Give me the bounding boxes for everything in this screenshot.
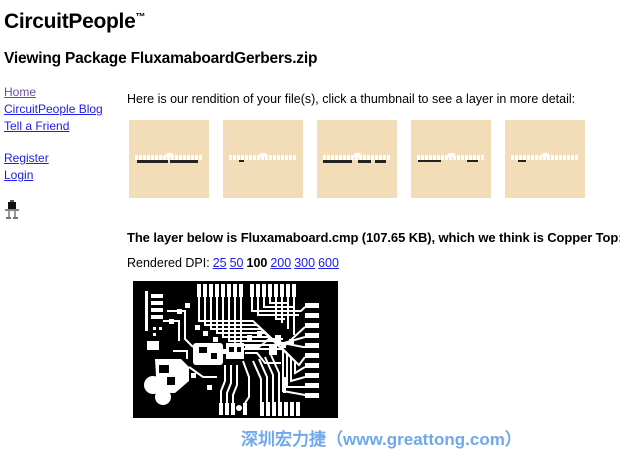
pcb-layer-render[interactable] [133,281,338,418]
layer-thumbnail-2[interactable] [223,120,303,198]
dpi-option-600[interactable]: 600 [318,256,339,270]
robot-figure-icon [4,200,20,220]
layer-thumbnail-1[interactable] [129,120,209,198]
intro-text: Here is our rendition of your file(s), c… [127,92,575,106]
trademark-symbol: ™ [135,12,145,23]
layer-caption: The layer below is Fluxamaboard.cmp (107… [127,230,620,245]
dpi-label: Rendered DPI: [127,256,210,270]
sidebar-item-blog[interactable]: CircuitPeople Blog [4,101,119,118]
dpi-selector: Rendered DPI:2550100200300600 [127,256,339,270]
dpi-option-50[interactable]: 50 [230,256,244,270]
dpi-option-200[interactable]: 200 [270,256,291,270]
sidebar-item-tell-a-friend[interactable]: Tell a Friend [4,118,119,135]
dpi-option-25[interactable]: 25 [213,256,227,270]
sidebar-item-home[interactable]: Home [4,84,119,101]
site-logo-title: CircuitPeople™ [4,10,145,34]
layer-thumbnail-3[interactable] [317,120,397,198]
page-title: Viewing Package FluxamaboardGerbers.zip [4,50,317,68]
layer-thumbnail-4[interactable] [411,120,491,198]
dpi-option-300[interactable]: 300 [294,256,315,270]
layer-thumbnail-5[interactable] [505,120,585,198]
site-name: CircuitPeople [4,10,135,33]
thumbnail-row [129,120,585,198]
sidebar-item-login[interactable]: Login [4,167,119,184]
dpi-option-100-current: 100 [247,256,268,270]
sidebar-navigation: Home CircuitPeople Blog Tell a Friend Re… [4,84,119,184]
sidebar-divider-space [4,135,119,150]
sidebar-item-register[interactable]: Register [4,150,119,167]
watermark-text: 深圳宏力捷（www.greattong.com） [241,425,522,450]
